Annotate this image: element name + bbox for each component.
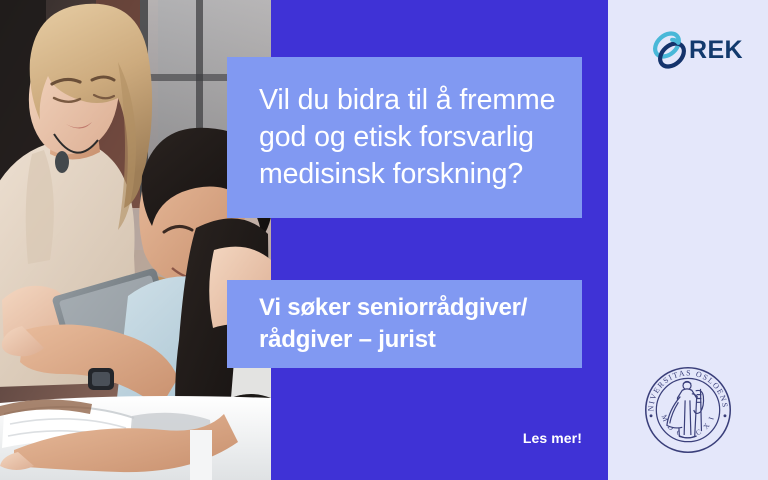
uio-seal: UNIVERSITAS OSLOENSIS M D C C C X I [640, 362, 736, 458]
headline-textbox: Vil du bidra til å fremme god og etisk f… [227, 57, 582, 218]
job-title-line-1: Vi søker seniorrådgiver/ [259, 292, 560, 324]
recruitment-banner: Vil du bidra til å fremme god og etisk f… [0, 0, 768, 480]
headline-line-3: medisinsk forskning? [259, 156, 560, 193]
rek-wordmark: REK [689, 38, 743, 63]
rek-logo: REK [648, 26, 744, 74]
headline-line-2: god og etisk forsvarlig [259, 119, 560, 156]
les-mer-link[interactable]: Les mer! [431, 430, 582, 446]
rek-rings-icon [648, 28, 692, 72]
headline-line-1: Vil du bidra til å fremme [259, 82, 560, 119]
job-title-line-2: rådgiver – jurist [259, 324, 560, 356]
job-title-textbox: Vi søker seniorrådgiver/ rådgiver – juri… [227, 280, 582, 368]
